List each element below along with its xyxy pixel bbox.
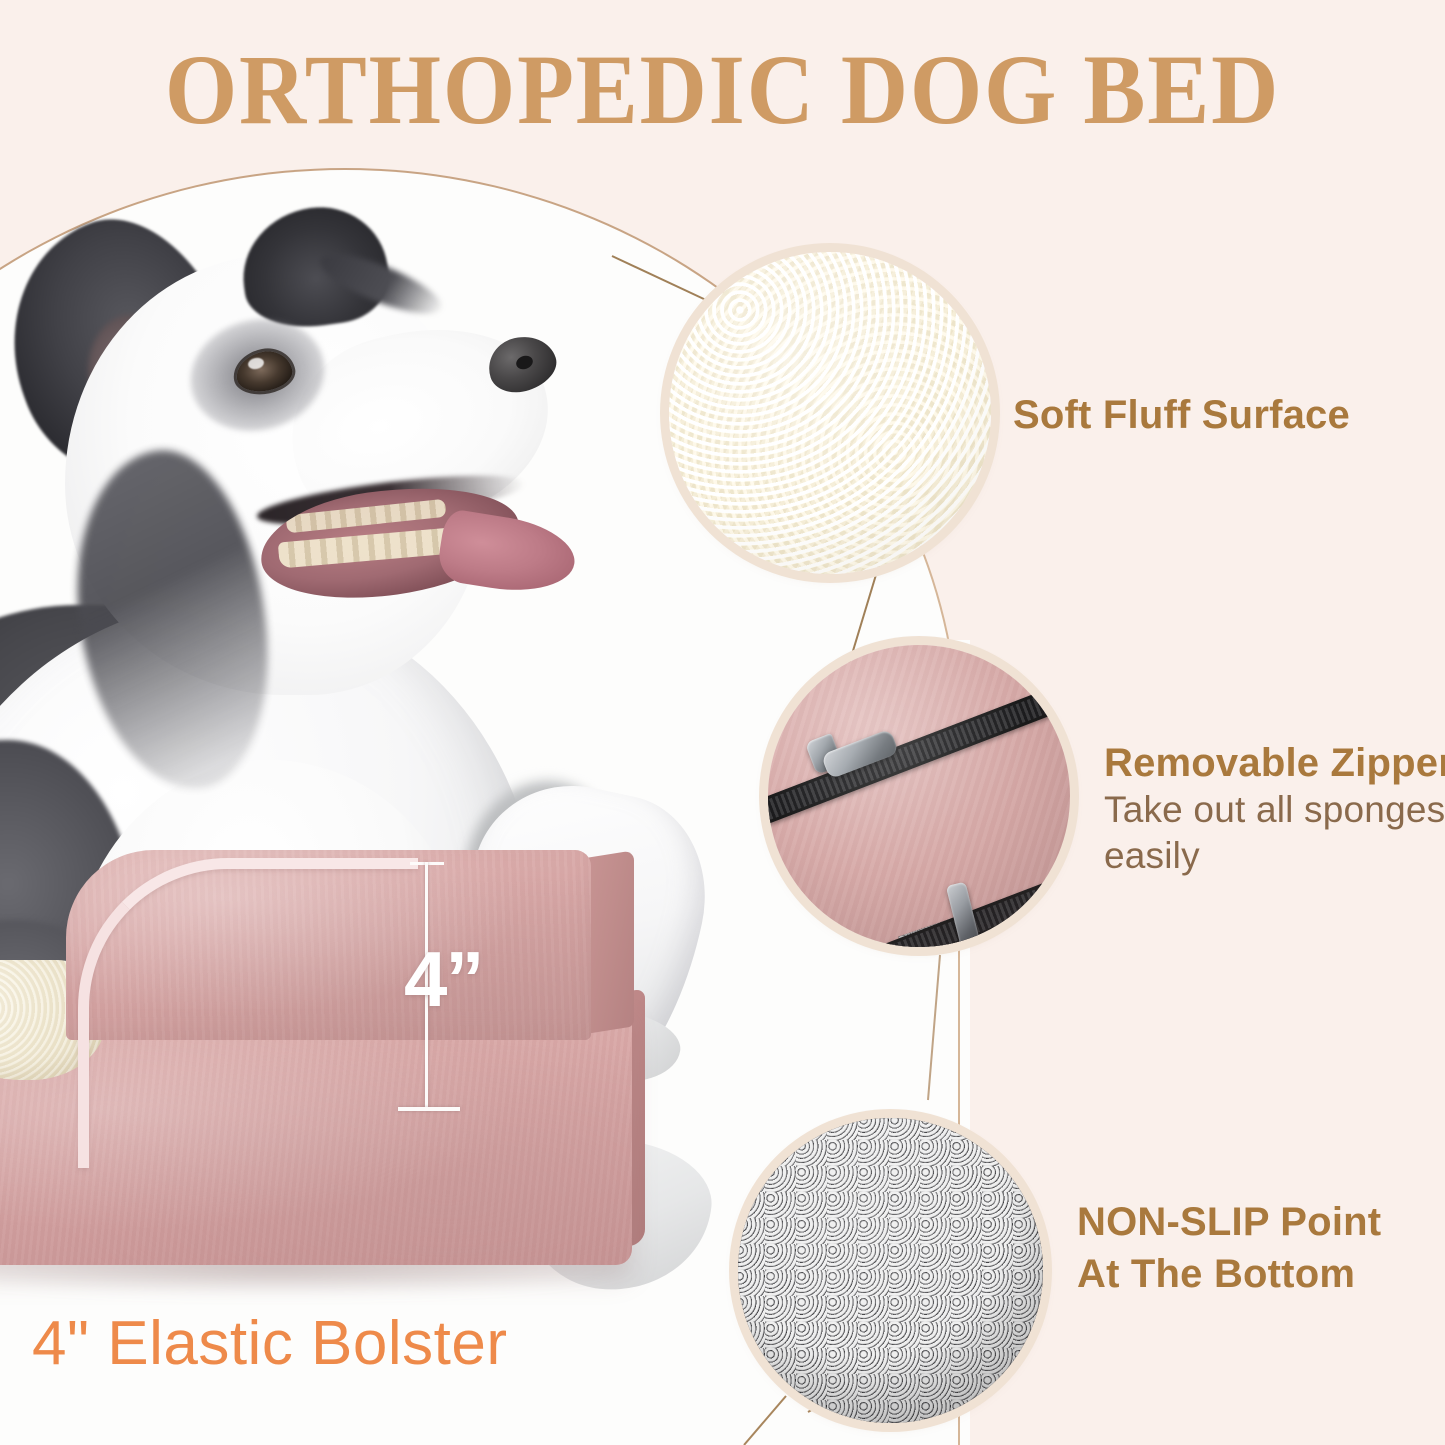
dimension-label: 4” <box>404 940 482 1018</box>
non-slip-bottom-swatch <box>738 1118 1043 1423</box>
bolster-caption: 4" Elastic Bolster <box>32 1308 508 1379</box>
zipper-vignette <box>768 645 1070 947</box>
feature-label-nonslip: NON-SLIP Point At The Bottom <box>1077 1196 1381 1300</box>
dog-bed <box>0 830 690 1300</box>
page-title: ORTHOPEDIC DOG BED <box>51 36 1395 144</box>
feature-heading-nonslip-2: At The Bottom <box>1077 1248 1381 1300</box>
feature-heading-nonslip-1: NON-SLIP Point <box>1077 1196 1381 1248</box>
product-infographic-poster: ORTHOPEDIC DOG BED <box>0 0 1445 1445</box>
feature-label-fluff: Soft Fluff Surface <box>1013 392 1350 439</box>
feature-subtext-zipper-2: easily <box>1104 833 1445 879</box>
fluff-shading <box>669 252 991 574</box>
feature-heading-zipper: Removable Zipper <box>1104 740 1445 787</box>
bolster-height-dimension: 4” <box>398 862 488 1110</box>
feature-label-zipper: Removable Zipper Take out all sponges ea… <box>1104 740 1445 880</box>
feature-subtext-zipper-1: Take out all sponges <box>1104 787 1445 833</box>
nonslip-vignette <box>738 1118 1043 1423</box>
soft-fluff-surface-swatch <box>669 252 991 574</box>
bolster-white-piping <box>78 858 418 1168</box>
dimension-bottom-cap <box>398 1107 460 1111</box>
removable-zipper-swatch <box>768 645 1070 947</box>
feature-heading-fluff: Soft Fluff Surface <box>1013 392 1350 439</box>
